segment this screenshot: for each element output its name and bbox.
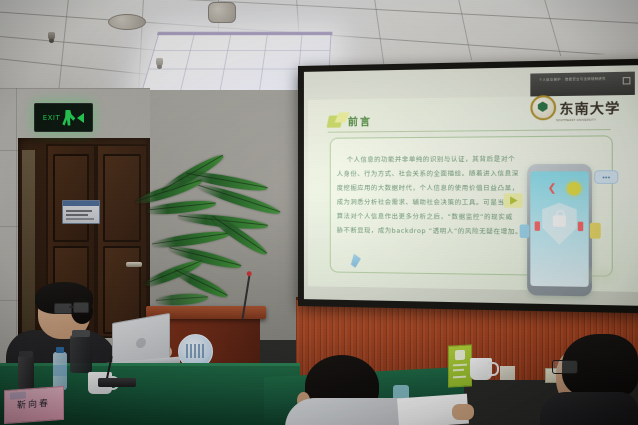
- share-icon: ❮: [548, 184, 559, 194]
- slide-body-line: 成为洞悉分析社会需求、辅助社会决策的工具。可是当运用: [337, 197, 519, 207]
- chat-bubble-icon: ●●●: [594, 170, 618, 184]
- emergency-exit-sign: EXIT: [34, 103, 93, 132]
- name-placard: 靳向春: [4, 386, 64, 424]
- university-name-en: SOUTHEAST UNIVERSITY: [556, 119, 596, 123]
- play-tag-icon: [504, 193, 523, 208]
- eyeglasses-icon: [54, 303, 72, 314]
- table-box: [500, 366, 515, 380]
- sprinkler-head: [48, 32, 55, 41]
- university-name-cn: 东南大学: [559, 97, 620, 118]
- pencil-icon: [351, 254, 361, 268]
- logo-bar-caption: 个人信息保护 · 数据安全与法律规制研究: [539, 76, 606, 81]
- red-tag-icon: [535, 221, 540, 230]
- lock-icon: [553, 215, 566, 227]
- door-leaf-right[interactable]: [96, 144, 148, 338]
- blue-tag-icon: [520, 224, 530, 238]
- slide-watermark: [580, 264, 624, 288]
- sprinkler-head: [156, 58, 163, 67]
- slide-title: 前言: [348, 113, 372, 128]
- eyeglasses-icon: [73, 302, 89, 313]
- eyeglasses-bridge: [69, 306, 74, 308]
- yellow-tag-icon: [590, 223, 601, 239]
- door-room-plaque: [62, 200, 100, 224]
- presentation-slide: 个人信息保护 · 数据安全与法律规制研究 东南大学 SOUTHEAST UNIV…: [308, 95, 638, 292]
- desk-microphone-base: [98, 378, 136, 387]
- slide-content-card: 个人信息的功能并非单纯的识别与认证，其背后是对个 人身份、行为方式、社会关系的全…: [330, 135, 613, 276]
- sun-icon: [567, 182, 581, 196]
- exit-sign-label: EXIT: [43, 114, 61, 122]
- university-seal-icon: [530, 95, 556, 120]
- water-bottle: [53, 352, 67, 390]
- exit-arrow-icon: [77, 113, 84, 123]
- potted-palm-plant: [142, 160, 292, 330]
- door-handle[interactable]: [126, 262, 142, 267]
- logo-bar-square-icon: [623, 77, 631, 85]
- audience-hand-left: [452, 404, 474, 420]
- slide-body-line: 度挖掘应用的大数据时代，个人信息的使用价值日益凸显，: [337, 183, 519, 192]
- slide-body-line: 人身份、行为方式、社会关系的全面描绘。随着进入信息深: [337, 168, 519, 178]
- slide-title-block: 前言: [328, 113, 372, 129]
- placard-name-text: 靳向春: [17, 396, 50, 411]
- smoke-detector: [208, 2, 236, 23]
- running-man-icon: [62, 110, 75, 126]
- title-chip-icon: [327, 115, 344, 127]
- university-logo: 东南大学 SOUTHEAST UNIVERSITY: [530, 93, 635, 122]
- slide-body-line: 个人信息的功能并非单纯的识别与认证，其背后是对个: [347, 154, 515, 164]
- red-tag-icon: [578, 222, 583, 231]
- white-mug: [470, 358, 492, 380]
- conference-room-photo: EXIT 个人信息保护 · 数据安全与法律规制研究 东: [0, 0, 638, 425]
- ceiling-speaker: [108, 14, 146, 30]
- door-side-panel: [22, 150, 35, 332]
- slide-body-line: 胁不断显现，成为backdrop “透明人”的风险无疑在增加。: [337, 225, 523, 236]
- eyeglasses-icon: [552, 360, 578, 374]
- vacuum-flask: [70, 335, 92, 373]
- projection-screen: 个人信息保护 · 数据安全与法律规制研究 东南大学 SOUTHEAST UNIV…: [304, 65, 638, 306]
- slide-body-line: 算法对个人信息作出更多分析之后，“数据监控”的现实威: [337, 211, 513, 221]
- thermos: [18, 355, 34, 389]
- table-card-icon: [455, 350, 465, 361]
- projection-screen-frame: 个人信息保护 · 数据安全与法律规制研究 东南大学 SOUTHEAST UNIV…: [298, 59, 638, 314]
- audience-body-right: [540, 392, 638, 425]
- phone-screen: ❮: [530, 171, 588, 287]
- slide-title-rule: [328, 129, 611, 133]
- green-table-card: [448, 344, 472, 387]
